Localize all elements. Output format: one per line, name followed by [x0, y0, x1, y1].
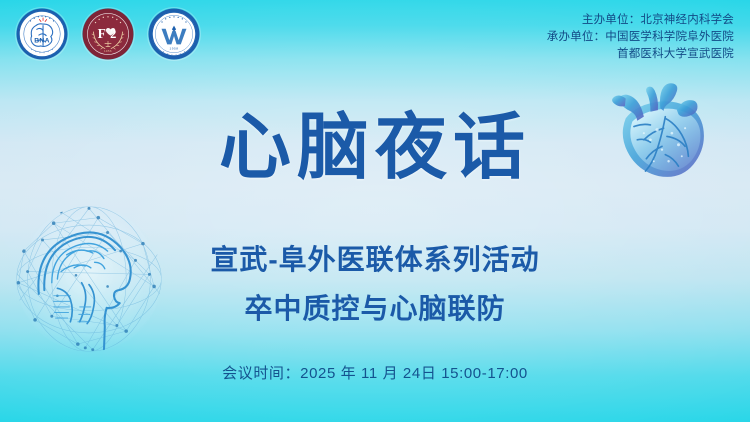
svg-text:BNA: BNA — [34, 37, 49, 44]
subtitle-theme: 卒中质控与心脑联防 — [244, 291, 505, 326]
meeting-time-label: 会议时间：2025 年 11 月 24日 15:00-17:00 — [222, 362, 528, 383]
xuanwu-hospital-logo-icon: 1958 — [148, 8, 200, 60]
bna-logo-icon: BNA — [16, 8, 68, 60]
fuwai-hospital-logo-icon: F 2 1956 — [82, 8, 134, 60]
organizer-line-co-host-2: 首都医科大学宣武医院 — [547, 46, 734, 63]
subtitle-series: 宣武-阜外医联体系列活动 — [210, 242, 539, 277]
page-title: 心脑夜话 — [219, 112, 531, 184]
svg-text:2: 2 — [110, 27, 116, 41]
organizer-block: 主办单位：北京神经内科学会 承办单位：中国医学科学院阜外医院 首都医科大学宣武医… — [547, 12, 734, 63]
poster-canvas: BNA — [0, 0, 750, 422]
svg-text:F: F — [98, 26, 106, 41]
organizer-line-co-host-1: 承办单位：中国医学科学院阜外医院 — [547, 29, 734, 46]
logo-row: BNA — [16, 8, 200, 60]
svg-text:1958: 1958 — [170, 47, 179, 51]
organizer-line-host: 主办单位：北京神经内科学会 — [547, 12, 734, 29]
svg-text:1956: 1956 — [104, 49, 112, 53]
poster-content: 心脑夜话 宣武-阜外医联体系列活动 卒中质控与心脑联防 会议时间：2025 年 … — [0, 0, 750, 422]
